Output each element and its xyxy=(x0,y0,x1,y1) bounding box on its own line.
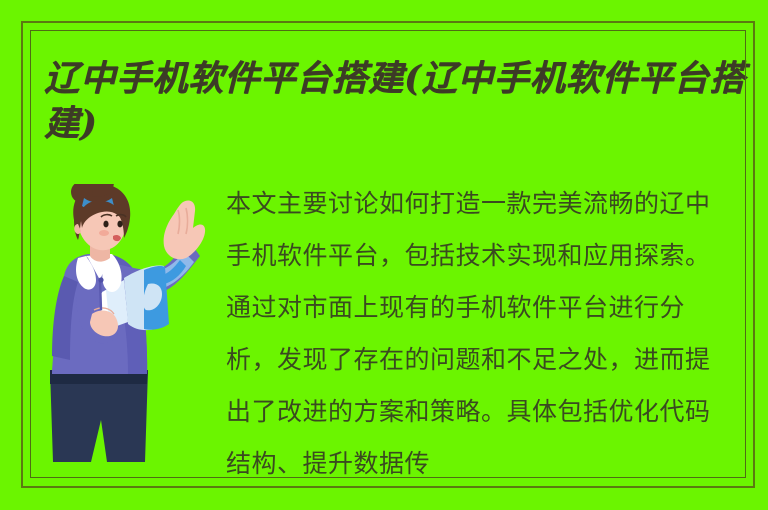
body-paragraph: 本文主要讨论如何打造一款完美流畅的辽中手机软件平台，包括技术实现和应用探索。通过… xyxy=(226,178,731,490)
page-title: 辽中手机软件平台搭建(辽中手机软件平台搭建) xyxy=(44,56,768,146)
poster-canvas: 辽中手机软件平台搭建(辽中手机软件平台搭建) 本文主要讨论如何打造一款完美流畅的… xyxy=(0,0,768,510)
eye-left xyxy=(103,221,108,228)
pants-shape xyxy=(50,370,148,462)
zipper xyxy=(100,280,101,310)
raised-hand xyxy=(164,200,206,259)
eye-right xyxy=(117,221,122,228)
head xyxy=(71,184,130,250)
woman-with-megaphone-illustration xyxy=(44,184,209,469)
zipper-pull xyxy=(98,277,103,282)
